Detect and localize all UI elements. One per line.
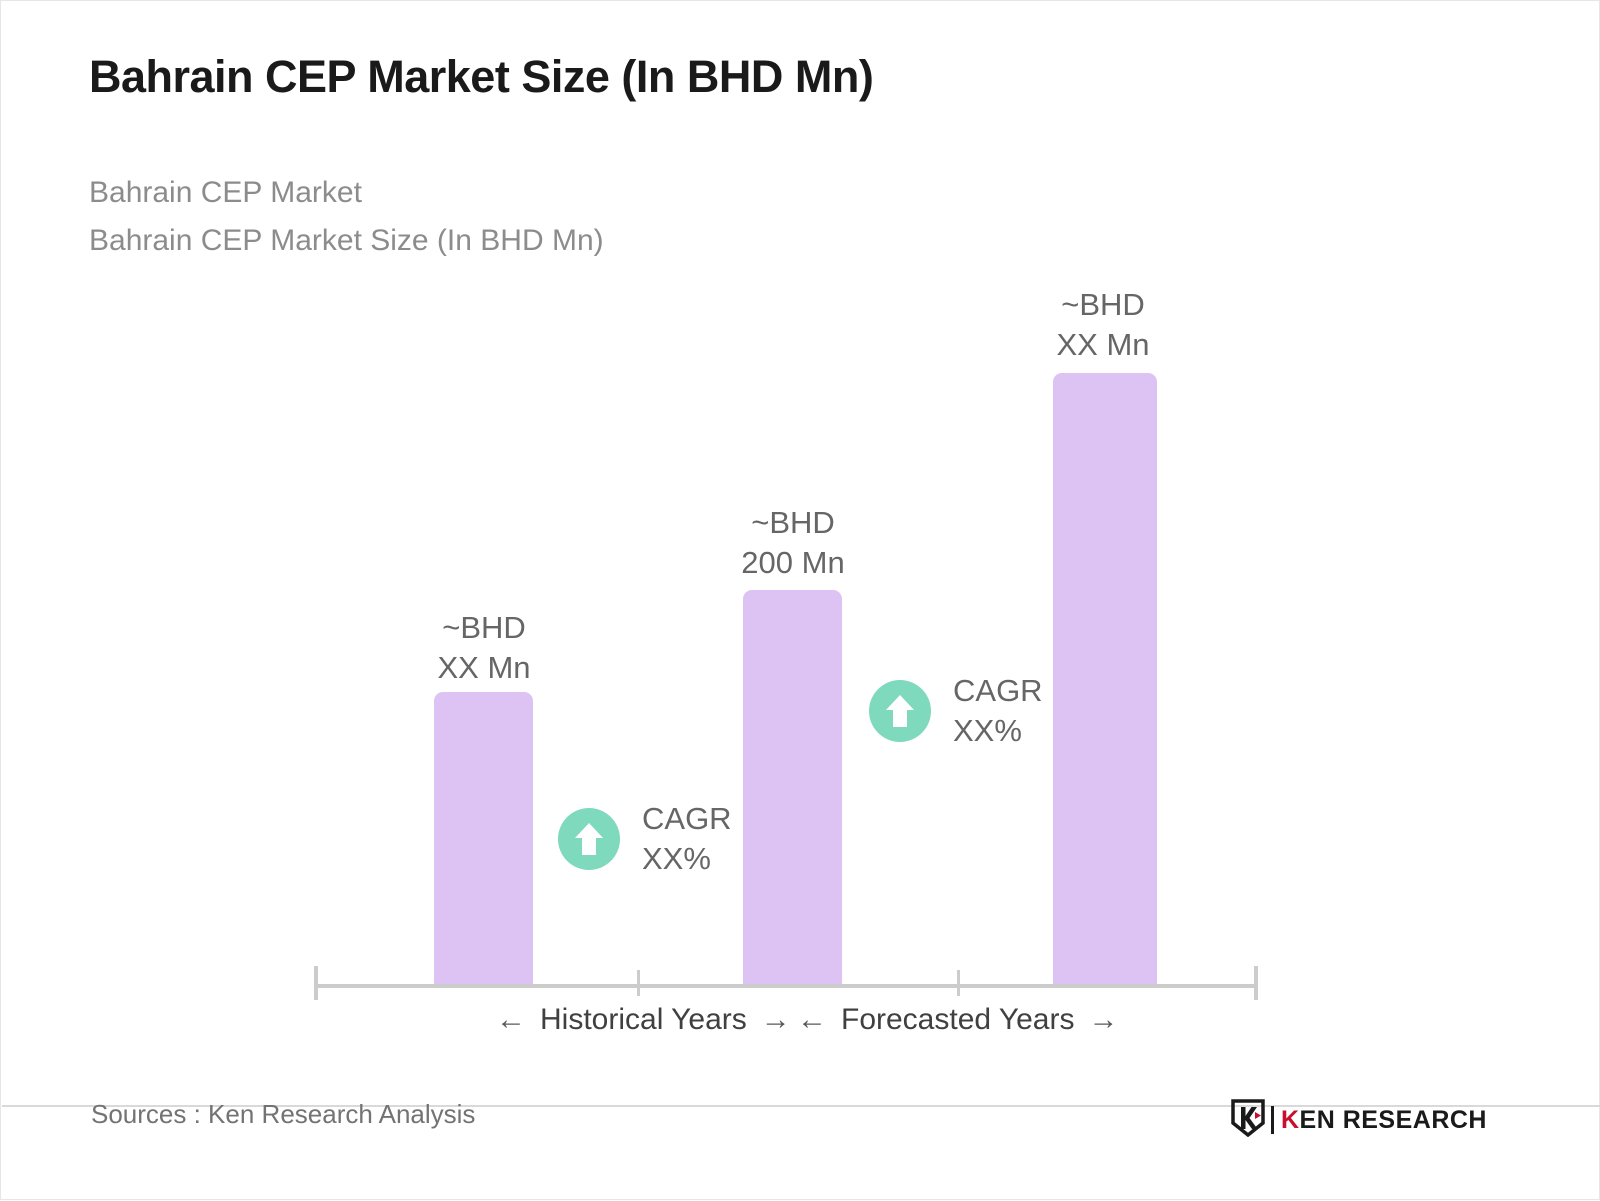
ken-research-logo: KEN RESEARCH xyxy=(1231,1099,1487,1141)
bar-chart: ~BHD XX Mn CAGR XX% ~BHD 200 Mn xyxy=(1,1,1600,1201)
arrow-right-icon: → xyxy=(761,1005,791,1035)
slide-canvas: Bahrain CEP Market Size (In BHD Mn) Bahr… xyxy=(0,0,1600,1200)
arrow-left-icon: ← xyxy=(496,1005,526,1035)
cagr-historical-line2: XX% xyxy=(642,839,732,879)
bar-forecasted[interactable] xyxy=(1053,373,1157,984)
cagr-text-historical: CAGR XX% xyxy=(642,799,732,879)
arrow-up-icon xyxy=(558,808,620,870)
bar-label-3-line2: XX Mn xyxy=(993,325,1213,365)
cagr-historical-line1: CAGR xyxy=(642,799,732,839)
logo-divider xyxy=(1271,1106,1274,1134)
axis-caption-historical: ← Historical Years → xyxy=(496,1003,791,1037)
logo-wordmark: KEN RESEARCH xyxy=(1281,1106,1487,1135)
shield-k-icon xyxy=(1231,1099,1265,1142)
x-axis-tick-2 xyxy=(957,970,960,996)
bar-label-3: ~BHD XX Mn xyxy=(993,285,1213,365)
cagr-annotation-forecasted: CAGR XX% xyxy=(869,671,1043,751)
arrow-up-icon xyxy=(869,680,931,742)
bar-label-1-line2: XX Mn xyxy=(374,648,594,688)
arrow-left-icon: ← xyxy=(797,1005,827,1035)
bar-historical[interactable] xyxy=(434,692,533,984)
bar-label-2-line2: 200 Mn xyxy=(683,543,903,583)
cagr-forecasted-line1: CAGR xyxy=(953,671,1043,711)
axis-caption-forecasted-label: Forecasted Years xyxy=(841,1003,1074,1037)
x-axis-end-cap xyxy=(1254,966,1258,1000)
x-axis-start-cap xyxy=(314,966,318,1000)
bar-base-year[interactable] xyxy=(743,590,842,984)
bar-label-2-line1: ~BHD xyxy=(683,503,903,543)
cagr-text-forecasted: CAGR XX% xyxy=(953,671,1043,751)
bar-label-1: ~BHD XX Mn xyxy=(374,608,594,688)
logo-rest-letters: EN RESEARCH xyxy=(1300,1106,1487,1134)
sources-text: Sources : Ken Research Analysis xyxy=(91,1099,475,1130)
bar-label-2: ~BHD 200 Mn xyxy=(683,503,903,583)
axis-caption-forecasted: ← Forecasted Years → xyxy=(797,1003,1118,1037)
axis-caption-historical-label: Historical Years xyxy=(540,1003,747,1037)
arrow-right-icon: → xyxy=(1088,1005,1118,1035)
logo-accent-letter: K xyxy=(1281,1106,1300,1134)
bar-label-1-line1: ~BHD xyxy=(374,608,594,648)
cagr-annotation-historical: CAGR XX% xyxy=(558,799,732,879)
cagr-forecasted-line2: XX% xyxy=(953,711,1043,751)
x-axis-line xyxy=(314,984,1258,988)
x-axis-tick-1 xyxy=(637,970,640,996)
bar-label-3-line1: ~BHD xyxy=(993,285,1213,325)
